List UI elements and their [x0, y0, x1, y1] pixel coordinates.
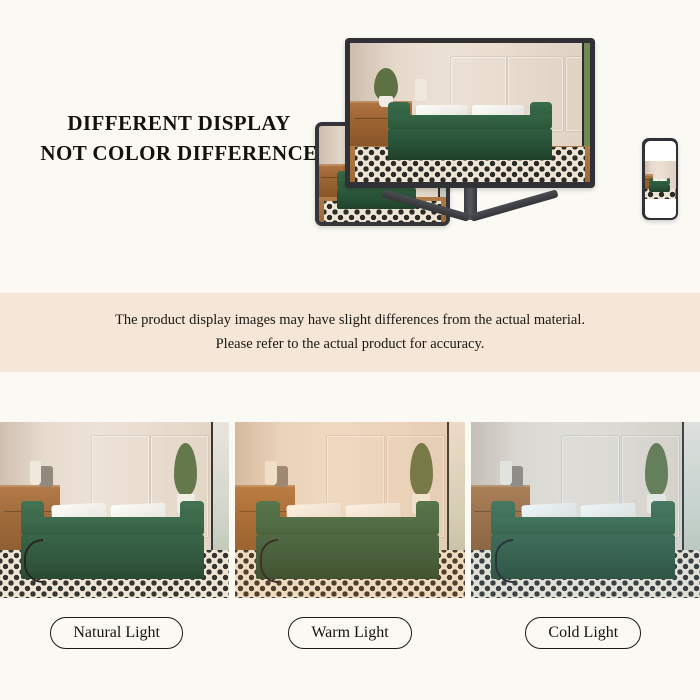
green-sofa: [21, 501, 204, 578]
page-title: DIFFERENT DISPLAY NOT COLOR DIFFERENCE: [34, 108, 324, 169]
sofa-seat: [491, 517, 674, 536]
photo-wrap: [471, 422, 700, 598]
device-cluster: [310, 38, 700, 248]
hero-section: DIFFERENT DISPLAY NOT COLOR DIFFERENCE: [0, 0, 700, 293]
sofa-body: [21, 535, 204, 578]
room-photo-warm: [235, 422, 464, 598]
window: [582, 43, 590, 163]
label-natural-light[interactable]: Natural Light: [50, 617, 183, 649]
sofa-seat: [388, 115, 551, 128]
phone-screen: [645, 141, 676, 218]
lighting-comparison-gallery: [0, 422, 700, 598]
table-lamp: [265, 461, 276, 486]
room-photo-monitor: [350, 43, 590, 182]
label-cell-natural: Natural Light: [0, 612, 233, 654]
sofa-seat: [21, 517, 204, 536]
sofa-body: [491, 535, 674, 578]
sofa-body: [388, 129, 551, 160]
decor-vase: [39, 466, 53, 487]
label-cell-cold: Cold Light: [467, 612, 700, 654]
monitor-bezel: [345, 38, 595, 188]
disclaimer-line-2: Please refer to the actual product for a…: [216, 333, 485, 357]
room-photo-phone: [645, 161, 676, 200]
label-warm-light[interactable]: Warm Light: [288, 617, 411, 649]
green-sofa: [256, 501, 439, 578]
potted-plant: [645, 443, 668, 496]
sofa-seat: [256, 517, 439, 536]
phone-photo-area: [645, 161, 676, 200]
table-lamp: [30, 461, 41, 486]
room-photo-natural: [0, 422, 229, 598]
hero-heading-line-2: NOT COLOR DIFFERENCE: [34, 138, 324, 168]
desktop-monitor-device: [345, 38, 595, 188]
photo-wrap: [235, 422, 464, 598]
phone-bezel: [642, 138, 678, 220]
room-photo-cold: [471, 422, 700, 598]
sofa-body: [256, 535, 439, 578]
disclaimer-line-1: The product display images may have slig…: [115, 309, 585, 333]
green-sofa: [649, 178, 669, 192]
monitor-screen: [350, 43, 590, 182]
green-sofa: [388, 104, 551, 160]
table-lamp: [500, 461, 511, 486]
potted-plant: [410, 443, 433, 496]
disclaimer-banner: The product display images may have slig…: [0, 293, 700, 372]
sofa-body: [649, 184, 669, 192]
label-cell-warm: Warm Light: [233, 612, 466, 654]
smartphone-device: [642, 138, 678, 220]
gallery-panel-warm[interactable]: [235, 422, 464, 598]
photo-wrap: [0, 422, 229, 598]
table-lamp: [415, 79, 427, 101]
monitor-stand-base-right: [470, 189, 559, 221]
gallery-panel-cold[interactable]: [471, 422, 700, 598]
gallery-panel-natural[interactable]: [0, 422, 229, 598]
hero-heading-line-1: DIFFERENT DISPLAY: [34, 108, 324, 138]
green-sofa: [491, 501, 674, 578]
label-cold-light[interactable]: Cold Light: [525, 617, 641, 649]
lighting-label-row: Natural Light Warm Light Cold Light: [0, 612, 700, 654]
